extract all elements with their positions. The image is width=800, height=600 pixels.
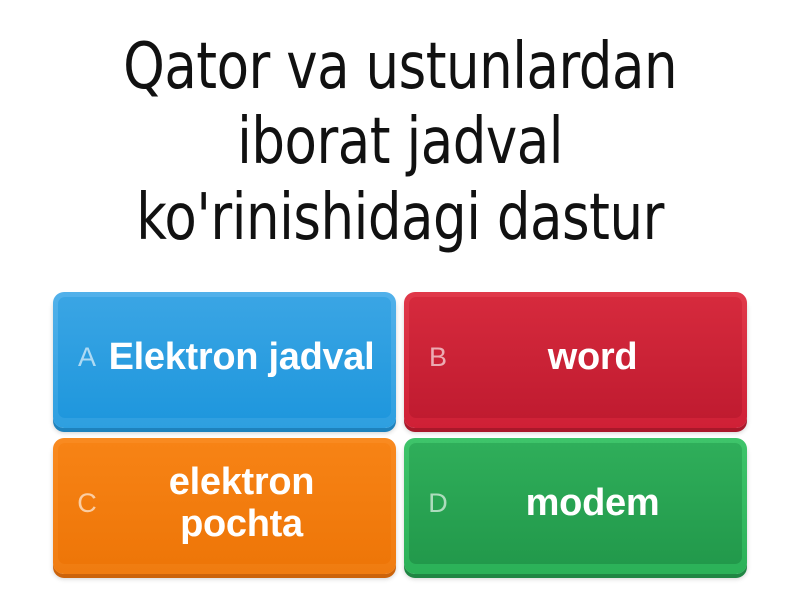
answer-letter-d: D — [417, 490, 459, 517]
answer-option-a[interactable]: A Elektron jadval — [53, 292, 396, 428]
answer-letter-c: C — [66, 490, 108, 517]
answer-label-d: modem — [459, 483, 732, 524]
answer-option-d-face: D modem — [409, 443, 742, 564]
answer-label-b: word — [459, 337, 732, 378]
answer-label-a: Elektron jadval — [108, 337, 381, 378]
question-area: Qator va ustunlardan iborat jadval ko'ri… — [0, 0, 800, 286]
answer-letter-a: A — [66, 344, 108, 371]
answer-option-c-face: C elektron pochta — [58, 443, 391, 564]
answer-letter-b: B — [417, 344, 459, 371]
answer-label-c: elektron pochta — [108, 462, 381, 544]
answer-option-c[interactable]: C elektron pochta — [53, 438, 396, 574]
question-text: Qator va ustunlardan iborat jadval ko'ri… — [123, 30, 677, 257]
answer-options-grid: A Elektron jadval B word C elektron poch… — [53, 292, 747, 576]
answer-option-b[interactable]: B word — [404, 292, 747, 428]
answer-option-b-face: B word — [409, 297, 742, 418]
quiz-screen: Qator va ustunlardan iborat jadval ko'ri… — [0, 0, 800, 600]
answer-option-a-face: A Elektron jadval — [58, 297, 391, 418]
answer-option-d[interactable]: D modem — [404, 438, 747, 574]
